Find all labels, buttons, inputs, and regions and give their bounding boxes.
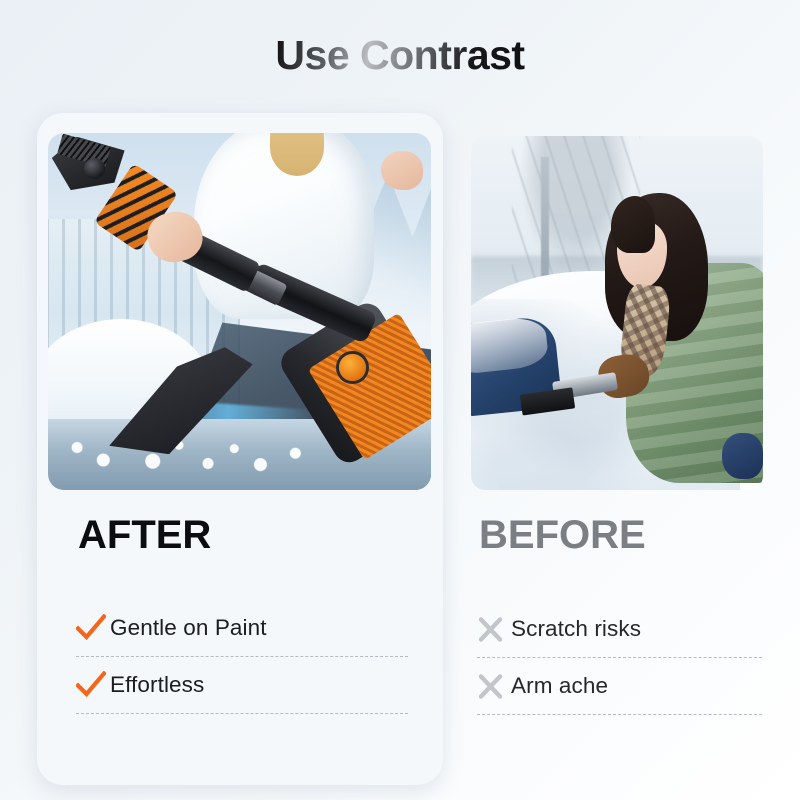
infographic-page: Use Contrast xyxy=(0,0,800,800)
list-item: Gentle on Paint xyxy=(76,600,408,656)
before-label: BEFORE xyxy=(479,513,646,558)
page-title: Use Contrast xyxy=(0,32,800,79)
before-feature-list: Scratch risks Arm ache xyxy=(477,601,762,715)
before-photo-hair-front xyxy=(611,196,655,253)
list-divider xyxy=(477,714,762,715)
cross-icon xyxy=(477,673,511,700)
after-feature-list: Gentle on Paint Effortless xyxy=(76,600,408,714)
before-product-photo xyxy=(471,136,763,490)
list-divider xyxy=(76,713,408,714)
cross-icon xyxy=(477,616,511,643)
check-icon xyxy=(76,614,110,642)
feature-label: Effortless xyxy=(110,672,204,698)
after-label: AFTER xyxy=(78,513,211,558)
list-item: Effortless xyxy=(76,657,408,713)
before-photo-boot xyxy=(722,433,763,479)
list-item: Scratch risks xyxy=(477,601,762,657)
check-icon xyxy=(76,671,110,699)
feature-label: Gentle on Paint xyxy=(110,615,267,641)
after-photo-pivot-knob xyxy=(339,354,366,381)
after-product-photo xyxy=(48,133,431,490)
list-item: Arm ache xyxy=(477,658,762,714)
feature-label: Scratch risks xyxy=(511,616,641,642)
feature-label: Arm ache xyxy=(511,673,608,699)
after-photo-person-hand xyxy=(381,151,423,190)
